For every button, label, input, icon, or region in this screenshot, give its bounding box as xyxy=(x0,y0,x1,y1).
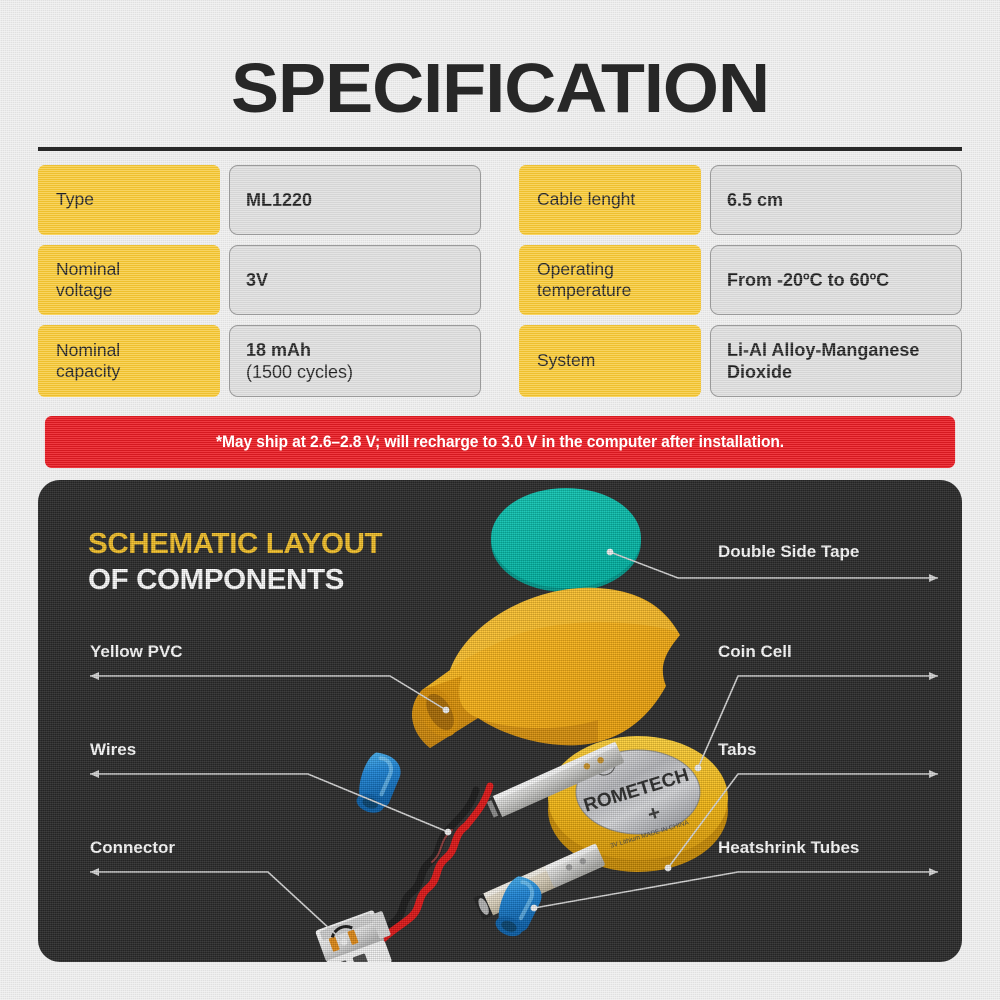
spec-label-text: System xyxy=(537,350,595,371)
spec-label-text: Nominal capacity xyxy=(56,340,120,383)
spec-value-system: Li-Al Alloy-Manganese Dioxide xyxy=(710,325,962,397)
callout-label-coin-cell: Coin Cell xyxy=(718,642,792,662)
warning-banner: *May ship at 2.6–2.8 V; will recharge to… xyxy=(45,416,955,468)
callout-label-connector: Connector xyxy=(90,838,175,858)
spec-value-nominal-capacity: 18 mAh (1500 cycles) xyxy=(229,325,481,397)
spec-value-text: 3V xyxy=(246,269,268,291)
spec-label-text: Cable lenght xyxy=(537,189,635,210)
callout-label-wires: Wires xyxy=(90,740,136,760)
spec-label-type: Type xyxy=(38,165,220,235)
warning-text: *May ship at 2.6–2.8 V; will recharge to… xyxy=(216,432,784,452)
table-row: Cable lenght 6.5 cm xyxy=(519,165,962,235)
spec-value-subtext: Dioxide xyxy=(727,361,919,383)
table-row: Nominal voltage 3V xyxy=(38,245,481,315)
spec-value-text: 6.5 cm xyxy=(727,189,783,211)
spec-value-nominal-voltage: 3V xyxy=(229,245,481,315)
infographic-page: SPECIFICATION Type ML1220 Nominal voltag… xyxy=(0,0,1000,1000)
spec-value-subtext: (1500 cycles) xyxy=(246,361,353,383)
table-row: Type ML1220 xyxy=(38,165,481,235)
spec-value-text: ML1220 xyxy=(246,189,312,211)
spec-label-nominal-capacity: Nominal capacity xyxy=(38,325,220,397)
callout-label-heatshrink-tubes: Heatshrink Tubes xyxy=(718,838,859,858)
page-title: SPECIFICATION xyxy=(0,48,1000,128)
callout-label-tabs: Tabs xyxy=(718,740,756,760)
spec-value-text: Li-Al Alloy-Manganese xyxy=(727,339,919,361)
spec-value-operating-temperature: From -20ºC to 60ºC xyxy=(710,245,962,315)
table-row: Nominal capacity 18 mAh (1500 cycles) xyxy=(38,325,481,397)
spec-column-right: Cable lenght 6.5 cm Operating temperatur… xyxy=(500,165,962,407)
callout-label-double-side-tape: Double Side Tape xyxy=(718,542,859,562)
spec-label-nominal-voltage: Nominal voltage xyxy=(38,245,220,315)
table-row: System Li-Al Alloy-Manganese Dioxide xyxy=(519,325,962,397)
spec-label-operating-temperature: Operating temperature xyxy=(519,245,701,315)
schematic-heading-line1: SCHEMATIC LAYOUT xyxy=(88,528,382,561)
schematic-heading: SCHEMATIC LAYOUT OF COMPONENTS xyxy=(88,528,376,597)
spec-label-system: System xyxy=(519,325,701,397)
specification-table: Type ML1220 Nominal voltage 3V Nominal c… xyxy=(38,165,962,407)
spec-label-cable-length: Cable lenght xyxy=(519,165,701,235)
callout-label-yellow-pvc: Yellow PVC xyxy=(90,642,183,662)
spec-label-text: Nominal voltage xyxy=(56,259,120,302)
table-row: Operating temperature From -20ºC to 60ºC xyxy=(519,245,962,315)
spec-value-cable-length: 6.5 cm xyxy=(710,165,962,235)
schematic-panel: SCHEMATIC LAYOUT OF COMPONENTS xyxy=(38,480,962,962)
spec-label-text: Type xyxy=(56,189,94,210)
schematic-heading-line2: OF COMPONENTS xyxy=(88,564,382,597)
spec-value-text: 18 mAh xyxy=(246,339,353,361)
spec-value-text: From -20ºC to 60ºC xyxy=(727,269,889,291)
title-divider xyxy=(38,147,962,151)
spec-label-text: Operating temperature xyxy=(537,259,631,302)
spec-value-type: ML1220 xyxy=(229,165,481,235)
spec-column-left: Type ML1220 Nominal voltage 3V Nominal c… xyxy=(38,165,500,407)
